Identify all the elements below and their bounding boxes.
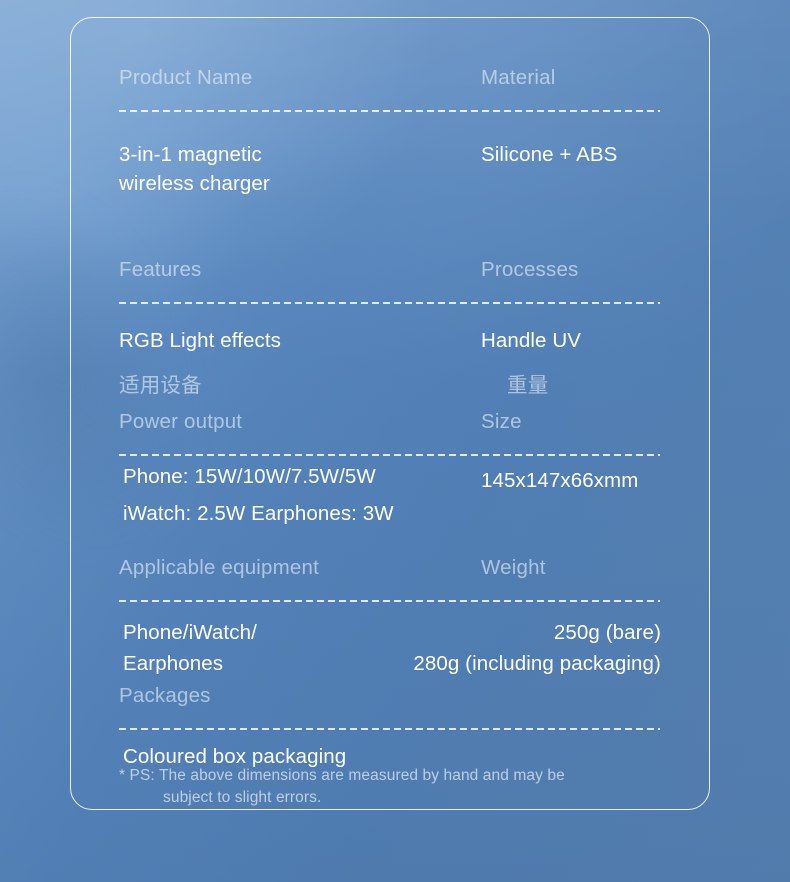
row-header-packages: Packages [119,684,211,708]
row-divider-5 [119,728,660,730]
row-divider-1 [119,110,660,112]
row-value-processes: Handle UV [481,326,581,355]
row-value-power-output-watch-earphones: iWatch: 2.5W Earphones: 3W [123,499,394,528]
row-header-applicable-equipment: Applicable equipment [119,556,319,580]
row-header-material: Material [481,66,556,90]
spec-row-packages: Packages Coloured box packaging [119,676,661,766]
row-header-weight: Weight [481,556,546,580]
row-divider-2 [119,302,660,304]
row-value-weight-bare: 250g (bare) [119,618,661,647]
footnote-line-2: subject to slight errors. [119,787,661,809]
row-subheader-applicable-devices-cn: 适用设备 [119,368,202,398]
row-value-weight-packaged: 280g (including packaging) [119,649,661,678]
spec-row-features: Features Processes RGB Light effects Han… [119,246,661,396]
spec-row-power-output: Power output Size Phone: 15W/10W/7.5W/5W… [119,396,661,536]
row-value-features: RGB Light effects [119,326,281,355]
row-divider-4 [119,600,660,602]
spec-row-applicable-equipment: Applicable equipment Weight Phone/iWatch… [119,536,661,686]
row-subheader-weight-cn: 重量 [507,368,548,398]
row-header-size: Size [481,410,522,434]
footnote: * PS: The above dimensions are measured … [119,765,661,809]
row-header-power-output: Power output [119,410,242,434]
row-header-features: Features [119,258,202,282]
row-value-product-name-line2: wireless charger [119,169,270,198]
footnote-line-1: * PS: The above dimensions are measured … [119,765,661,787]
row-value-product-name-line1: 3-in-1 magnetic [119,140,262,169]
row-header-processes: Processes [481,258,579,282]
row-value-material: Silicone + ABS [481,140,617,169]
row-value-size: 145x147x66xmm [481,466,638,495]
row-divider-3 [119,454,660,456]
spec-row-product-name: Product Name Material 3-in-1 magnetic wi… [119,18,661,188]
row-value-power-output-phone: Phone: 15W/10W/7.5W/5W [123,462,376,491]
spec-card: Product Name Material 3-in-1 magnetic wi… [70,17,710,810]
spec-table: Product Name Material 3-in-1 magnetic wi… [119,18,661,809]
row-header-product-name: Product Name [119,66,252,90]
